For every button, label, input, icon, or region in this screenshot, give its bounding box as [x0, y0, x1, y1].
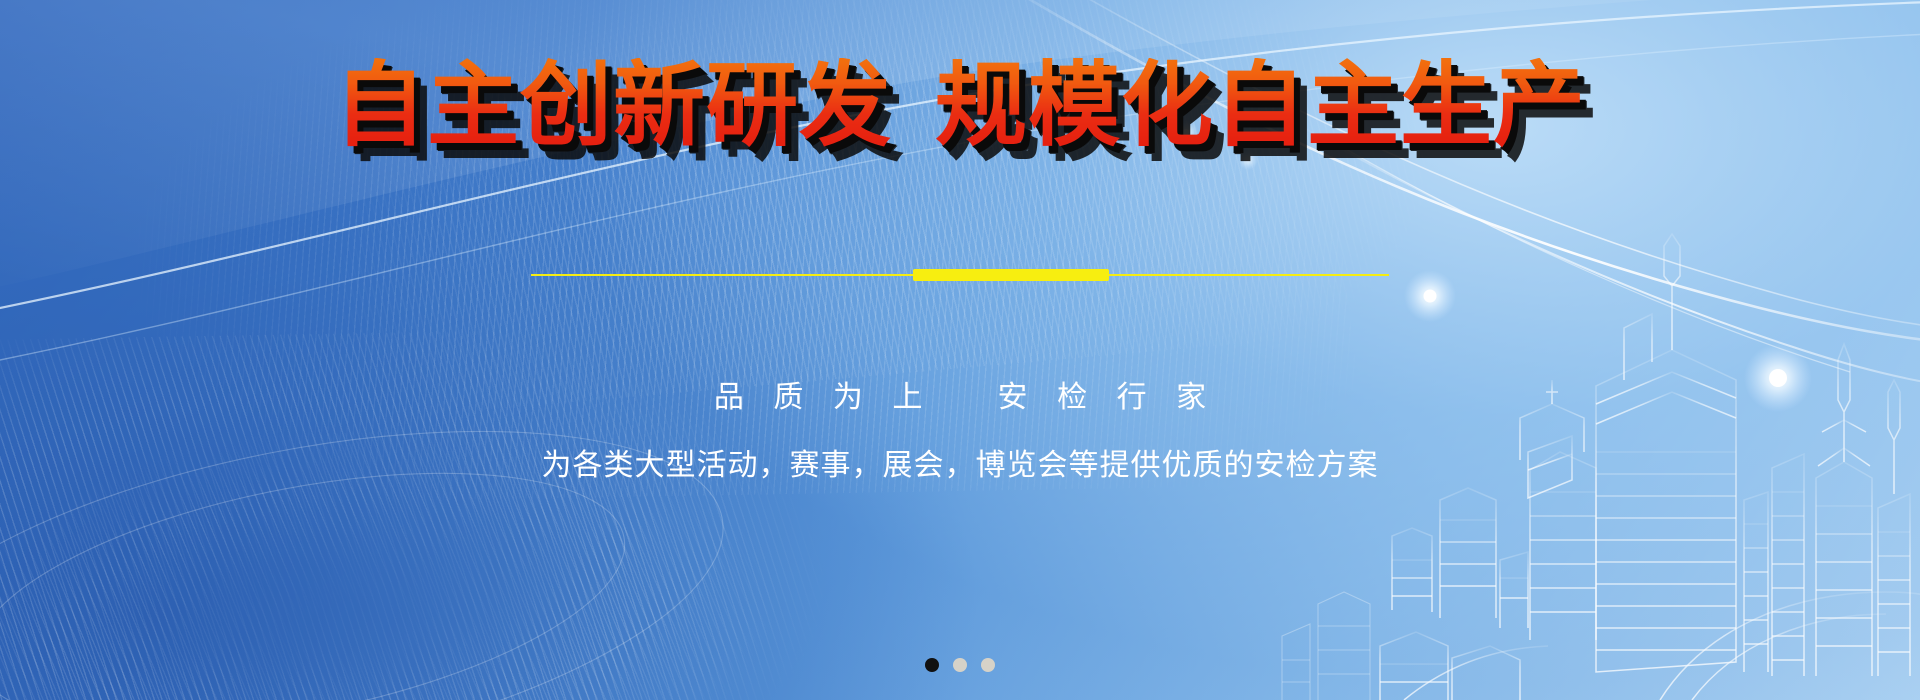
yellow-divider	[531, 268, 1389, 282]
headline-container: 自主创新研发 规模化自主生产	[0, 58, 1920, 155]
banner-content: 自主创新研发 规模化自主生产 品 质 为 上 安 检 行 家 为各类大型活动，赛…	[0, 0, 1920, 700]
carousel-dot-1[interactable]	[925, 658, 939, 672]
headline-part-2: 规模化自主生产	[935, 58, 1586, 155]
carousel-dot-2[interactable]	[953, 658, 967, 672]
hero-banner: 自主创新研发 规模化自主生产 品 质 为 上 安 检 行 家 为各类大型活动，赛…	[0, 0, 1920, 700]
divider-thick-segment	[913, 269, 1109, 281]
subtitle-secondary: 为各类大型活动，赛事，展会，博览会等提供优质的安检方案	[0, 440, 1920, 484]
subtitle-primary-right: 安 检 行 家	[998, 380, 1217, 415]
carousel-dots[interactable]	[0, 658, 1920, 672]
subtitle-primary: 品 质 为 上 安 检 行 家	[0, 372, 1920, 416]
carousel-dot-3[interactable]	[981, 658, 995, 672]
subtitle-primary-left: 品 质 为 上	[714, 380, 933, 415]
headline-part-1: 自主创新研发	[334, 58, 892, 155]
